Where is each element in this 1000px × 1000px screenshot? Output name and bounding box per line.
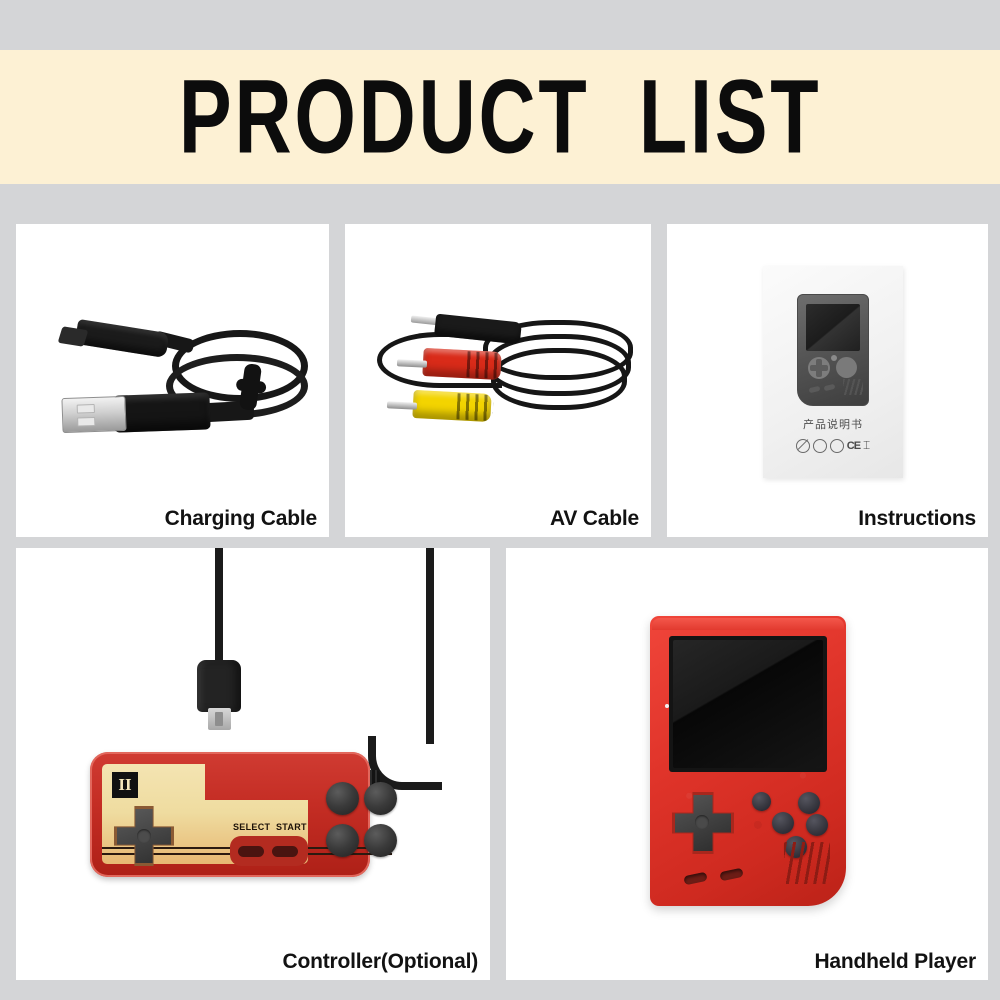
controller-turbo-button-a[interactable] (364, 782, 397, 815)
controller-start-label: START (276, 822, 307, 832)
controller-select-label: SELECT (233, 822, 270, 832)
card-label-charging-cable: Charging Cable (165, 507, 317, 531)
handheld-button-east[interactable] (806, 814, 828, 836)
controller-cable-right (426, 548, 434, 744)
controller-usb-plug-tip (208, 708, 231, 730)
handheld-body (650, 616, 846, 906)
rca-red-pin (397, 359, 427, 368)
card-label-av-cable: AV Cable (550, 507, 639, 531)
rca-yellow-ribs (456, 393, 493, 421)
micro-usb-tip (58, 326, 89, 346)
handheld-dpad[interactable] (675, 795, 731, 851)
product-card-charging-cable[interactable]: Charging Cable (16, 224, 329, 537)
product-card-av-cable[interactable]: AV Cable (345, 224, 651, 537)
booklet-console-illustration (797, 294, 869, 406)
usb-a-metal-plug (61, 396, 126, 433)
handheld-start-button[interactable] (719, 868, 743, 882)
booklet-cover-title: 产品说明书 (763, 416, 903, 432)
product-card-handheld-player[interactable]: Handheld Player (506, 548, 988, 980)
booklet-compliance-icons: CE ⌶ (763, 438, 903, 453)
handheld-screen (673, 640, 823, 768)
booklet-action-button-icon (836, 357, 857, 378)
handheld-dpad-base (672, 792, 734, 854)
controller-start-button[interactable] (272, 846, 298, 857)
usb-a-connector (113, 392, 210, 432)
handheld-top-edge (652, 618, 844, 630)
product-card-controller[interactable]: II SELECT START Controller(Optional) (16, 548, 490, 980)
booklet-oval-button-2 (824, 384, 836, 392)
controller-turbo-button-b[interactable] (326, 782, 359, 815)
controller-cable-left (215, 548, 223, 666)
controller-player-badge: II (112, 772, 138, 798)
page-title: PRODUCT LIST (179, 65, 821, 170)
handheld-power-led (665, 704, 669, 708)
card-label-controller: Controller(Optional) (283, 950, 478, 974)
handheld-console-icon (506, 548, 988, 980)
booklet-small-button-icon (831, 355, 837, 361)
no-disposal-icon (796, 439, 810, 453)
controller-usb-plug (197, 660, 241, 712)
handheld-button-south[interactable] (785, 836, 807, 858)
booklet-console-screen (806, 304, 860, 351)
card-label-handheld-player: Handheld Player (814, 950, 976, 974)
rca-red-ribs (466, 351, 503, 379)
controller-select-button[interactable] (238, 846, 264, 857)
rca-yellow-connector (412, 390, 491, 422)
booklet-speaker-grille-icon (843, 379, 863, 395)
handheld-button-north[interactable] (798, 792, 820, 814)
av-cable-icon (345, 224, 651, 537)
booklet-dpad-icon (808, 357, 830, 379)
game-controller-icon: II SELECT START (16, 548, 490, 980)
rca-red-connector (422, 348, 501, 380)
controller-button-a[interactable] (364, 824, 397, 857)
handheld-screen-bezel (669, 636, 827, 772)
instruction-booklet: 产品说明书 CE ⌶ (763, 266, 903, 478)
weee-bin-icon: ⌶ (863, 438, 870, 453)
handheld-dpad-center (695, 815, 709, 829)
rca-yellow-pin (387, 401, 417, 410)
booklet-oval-button-1 (809, 386, 821, 394)
handheld-button-west[interactable] (772, 812, 794, 834)
controller-body: II SELECT START (90, 752, 370, 877)
controller-button-b[interactable] (326, 824, 359, 857)
usb-cable-icon (16, 224, 329, 537)
page-title-banner: PRODUCT LIST (0, 50, 1000, 184)
cable-coil-3 (491, 348, 627, 410)
ce-mark-icon: CE (847, 440, 860, 452)
controller-dpad-center (137, 829, 151, 843)
manual-booklet-icon: 产品说明书 CE ⌶ (667, 224, 988, 537)
product-card-instructions[interactable]: 产品说明书 CE ⌶ Instructions (667, 224, 988, 537)
circle-icon-2 (830, 439, 844, 453)
handheld-select-button[interactable] (683, 872, 707, 886)
circle-icon-1 (813, 439, 827, 453)
micro-usb-connector (75, 319, 170, 358)
handheld-small-button[interactable] (752, 792, 771, 811)
handheld-speaker-grille (784, 842, 830, 884)
card-label-instructions: Instructions (858, 507, 976, 531)
